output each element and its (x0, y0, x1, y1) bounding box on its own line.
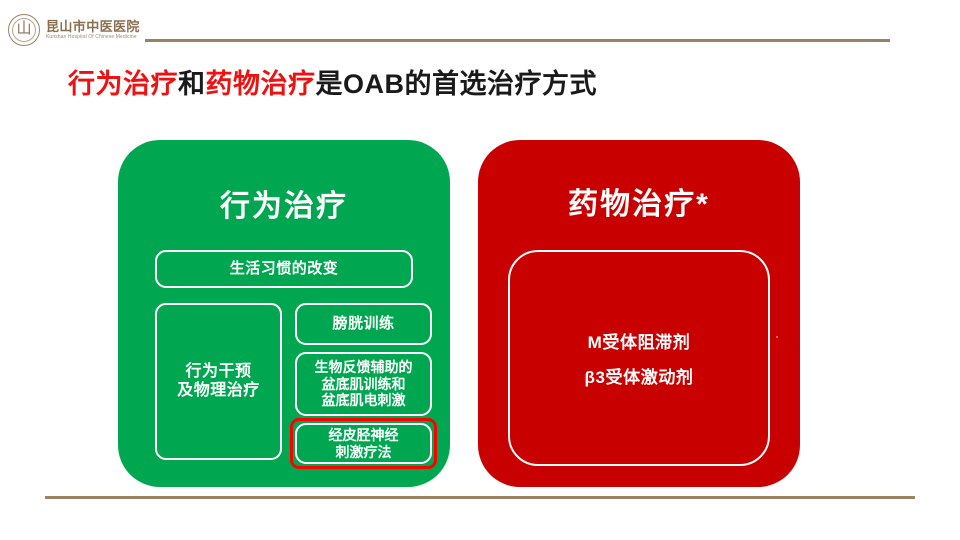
box-behavior-intervention-line2: 及物理治疗 (177, 382, 260, 401)
panel-behavioral-therapy: 行为治疗 生活习惯的改变 行为干预 及物理治疗 膀胱训练 生物反馈辅助的 盆底肌… (118, 140, 450, 487)
logo-name-en: Kunshan Hospital Of Chinese Medicine (46, 35, 140, 40)
box-behavior-intervention-line1: 行为干预 (177, 363, 260, 382)
panel-drug-therapy: 药物治疗* M受体阻滞剂 β3受体激动剂 (478, 140, 800, 487)
seal-glyph: 山 (9, 22, 39, 37)
panel-drug-heading: 药物治疗* (478, 190, 800, 220)
box-ttns-line2: 刺激疗法 (329, 444, 399, 461)
footer-divider-line (45, 496, 915, 499)
panel-behavioral-heading: 行为治疗 (118, 192, 450, 222)
title-segment-behavioral: 行为治疗 (68, 69, 178, 99)
box-behavior-intervention: 行为干预 及物理治疗 (155, 303, 282, 460)
drug-item-1: β3受体激动剂 (584, 363, 693, 388)
box-biofeedback-line3: 盆底肌电刺激 (315, 392, 413, 409)
box-lifestyle-change-label: 生活习惯的改变 (230, 260, 339, 278)
box-lifestyle-change: 生活习惯的改变 (155, 250, 413, 288)
title-segment-rest: 是OAB的首选治疗方式 (316, 69, 598, 99)
header-divider-line (145, 39, 890, 42)
logo-name-cn: 昆山市中医医院 (46, 20, 140, 34)
hospital-seal-icon: 山 (8, 14, 40, 46)
title-segment-drug: 药物治疗 (206, 69, 316, 99)
drug-item-0: M受体阻滞剂 (588, 328, 691, 353)
box-biofeedback-line1: 生物反馈辅助的 (315, 359, 413, 376)
box-ttns: 经皮胫神经 刺激疗法 (295, 423, 432, 464)
decorative-speck (776, 336, 778, 338)
page-title: 行为治疗和药物治疗是OAB的首选治疗方式 (68, 68, 597, 102)
hospital-logo: 山 昆山市中医医院 Kunshan Hospital Of Chinese Me… (8, 14, 144, 46)
box-ttns-line1: 经皮胫神经 (329, 427, 399, 444)
box-drug-list: M受体阻滞剂 β3受体激动剂 (508, 250, 770, 466)
box-biofeedback-pelvic-floor: 生物反馈辅助的 盆底肌训练和 盆底肌电刺激 (295, 352, 432, 416)
box-bladder-training: 膀胱训练 (295, 303, 432, 345)
title-segment-and: 和 (178, 69, 206, 99)
logo-text: 昆山市中医医院 Kunshan Hospital Of Chinese Medi… (46, 20, 140, 41)
box-biofeedback-line2: 盆底肌训练和 (315, 376, 413, 393)
box-bladder-training-label: 膀胱训练 (332, 315, 394, 333)
